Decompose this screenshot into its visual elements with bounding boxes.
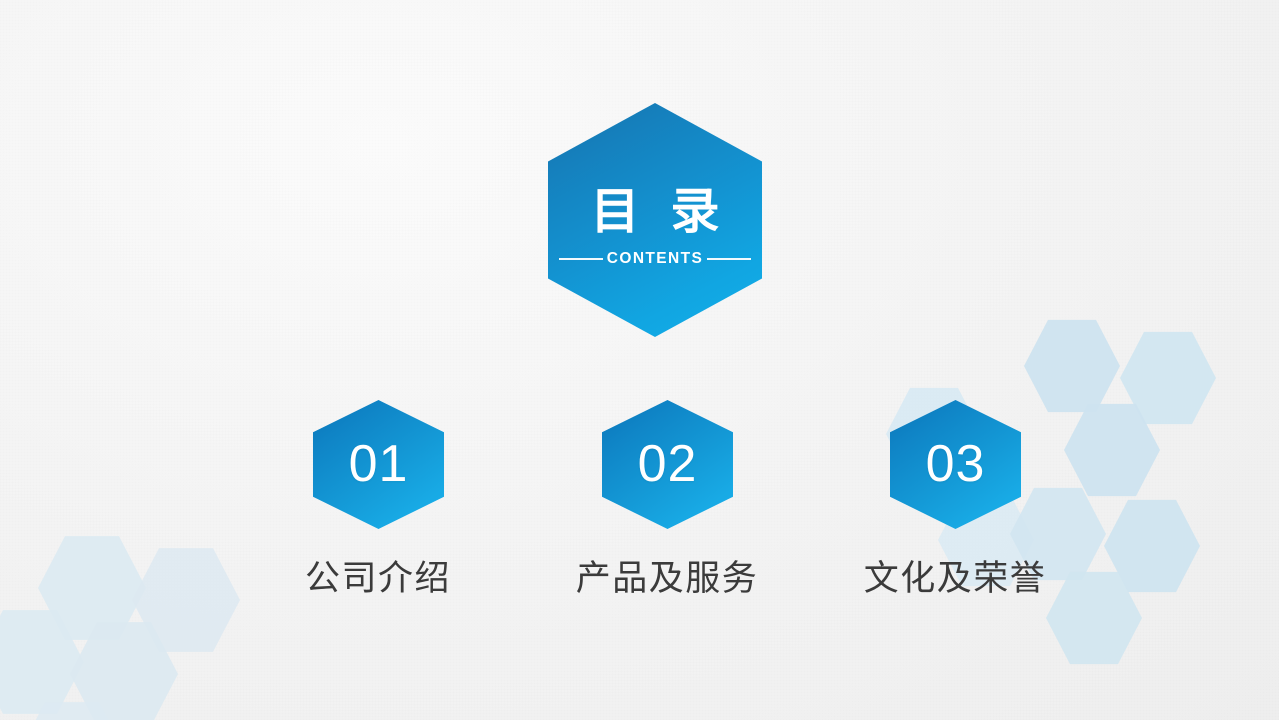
agenda-number-02: 02 — [602, 400, 733, 529]
agenda-label-02[interactable]: 产品及服务 — [527, 558, 807, 602]
agenda-label-01[interactable]: 公司介绍 — [238, 558, 518, 602]
agenda-number-01: 01 — [313, 400, 444, 529]
contents-title-group: 目 录 CONTENTS — [548, 103, 762, 337]
agenda-item-hexagon-02[interactable]: 02 — [602, 400, 733, 529]
rule-right-icon — [707, 258, 751, 260]
agenda-number-03: 03 — [890, 400, 1021, 529]
page-title: 目 录 — [590, 187, 726, 236]
slide-canvas: 目 录 CONTENTS 01 02 03 公司介绍 产品及服务 文化及荣誉 — [0, 0, 1279, 720]
agenda-label-03[interactable]: 文化及荣誉 — [815, 558, 1095, 602]
contents-title-hexagon[interactable]: 目 录 CONTENTS — [548, 103, 762, 337]
rule-left-icon — [559, 258, 603, 260]
agenda-item-hexagon-01[interactable]: 01 — [313, 400, 444, 529]
page-subtitle: CONTENTS — [603, 250, 707, 268]
agenda-item-hexagon-03[interactable]: 03 — [890, 400, 1021, 529]
contents-subtitle-row: CONTENTS — [559, 250, 751, 268]
slide-content: 目 录 CONTENTS 01 02 03 公司介绍 产品及服务 文化及荣誉 — [0, 0, 1279, 720]
